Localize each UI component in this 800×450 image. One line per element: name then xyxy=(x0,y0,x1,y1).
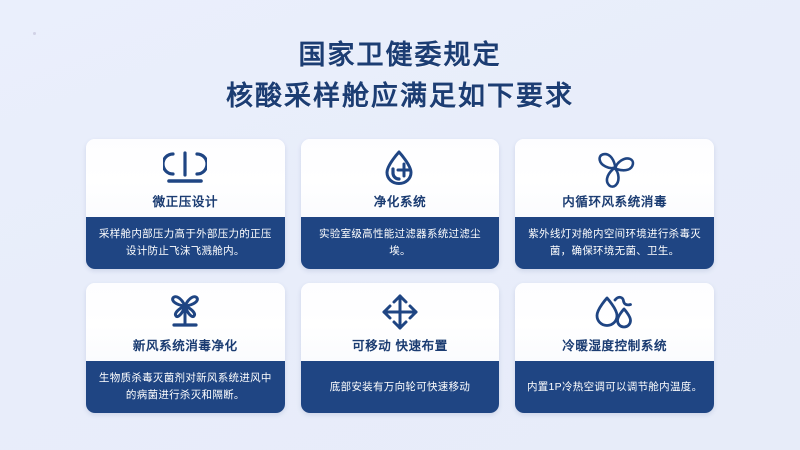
feature-card[interactable]: 可移动 快速布置 底部安装有万向轮可快速移动 xyxy=(301,283,500,413)
page-title: 国家卫健委规定 核酸采样舱应满足如下要求 xyxy=(226,38,574,113)
feature-card-header: 新风系统消毒净化 xyxy=(86,283,285,361)
feature-card-grid: 微正压设计 采样舱内部压力高于外部压力的正压设计防止飞沫飞溅舱内。 xyxy=(86,139,714,413)
feature-card-title: 冷暖湿度控制系统 xyxy=(562,335,667,354)
feature-card[interactable]: 新风系统消毒净化 生物质杀毒灭菌剂对新风系统进风中的病菌进行杀灭和隔断。 xyxy=(86,283,285,413)
feature-card-description: 底部安装有万向轮可快速移动 xyxy=(310,379,491,396)
feature-card-header: 冷暖湿度控制系统 xyxy=(515,283,714,361)
windmill-turbine-icon xyxy=(163,290,207,334)
page-title-line-2: 核酸采样舱应满足如下要求 xyxy=(226,79,574,114)
feature-card-body: 紫外线灯对舱内空间环境进行杀毒灭菌，确保环境无菌、卫生。 xyxy=(515,217,714,269)
feature-card-title: 新风系统消毒净化 xyxy=(133,335,238,354)
feature-card-title: 微正压设计 xyxy=(153,191,219,210)
feature-card-description: 实验室级高性能过滤器系统过滤尘埃。 xyxy=(310,226,491,260)
water-drop-plus-icon xyxy=(379,146,421,190)
feature-card-body: 内置1P冷热空调可以调节舱内温度。 xyxy=(515,361,714,413)
feature-card-body: 生物质杀毒灭菌剂对新风系统进风中的病菌进行杀灭和隔断。 xyxy=(86,361,285,413)
move-arrows-icon xyxy=(379,290,421,334)
feature-card-header: 净化系统 xyxy=(301,139,500,217)
fan-circulation-icon xyxy=(593,146,637,190)
feature-card-body: 底部安装有万向轮可快速移动 xyxy=(301,361,500,413)
feature-card-title: 可移动 快速布置 xyxy=(352,335,448,354)
feature-card-description: 紫外线灯对舱内空间环境进行杀毒灭菌，确保环境无菌、卫生。 xyxy=(524,226,705,260)
feature-card-description: 内置1P冷热空调可以调节舱内温度。 xyxy=(524,379,705,396)
feature-card[interactable]: 内循环风系统消毒 紫外线灯对舱内空间环境进行杀毒灭菌，确保环境无菌、卫生。 xyxy=(515,139,714,269)
page-title-line-1: 国家卫健委规定 xyxy=(226,38,574,73)
feature-card-description: 生物质杀毒灭菌剂对新风系统进风中的病菌进行杀灭和隔断。 xyxy=(95,370,276,404)
feature-card-description: 采样舱内部压力高于外部压力的正压设计防止飞沫飞溅舱内。 xyxy=(95,226,276,260)
humidity-drops-icon xyxy=(592,290,638,334)
feature-card[interactable]: 净化系统 实验室级高性能过滤器系统过滤尘埃。 xyxy=(301,139,500,269)
pressure-compression-icon xyxy=(163,146,207,190)
feature-card-title: 净化系统 xyxy=(374,191,426,210)
feature-card-header: 内循环风系统消毒 xyxy=(515,139,714,217)
feature-card-body: 实验室级高性能过滤器系统过滤尘埃。 xyxy=(301,217,500,269)
feature-card-header: 可移动 快速布置 xyxy=(301,283,500,361)
poster-canvas: 国家卫健委规定 核酸采样舱应满足如下要求 微正压设计 xyxy=(0,0,800,450)
feature-card-body: 采样舱内部压力高于外部压力的正压设计防止飞沫飞溅舱内。 xyxy=(86,217,285,269)
feature-card-header: 微正压设计 xyxy=(86,139,285,217)
feature-card[interactable]: 微正压设计 采样舱内部压力高于外部压力的正压设计防止飞沫飞溅舱内。 xyxy=(86,139,285,269)
feature-card-title: 内循环风系统消毒 xyxy=(562,191,667,210)
decorative-speck xyxy=(33,32,36,35)
feature-card[interactable]: 冷暖湿度控制系统 内置1P冷热空调可以调节舱内温度。 xyxy=(515,283,714,413)
